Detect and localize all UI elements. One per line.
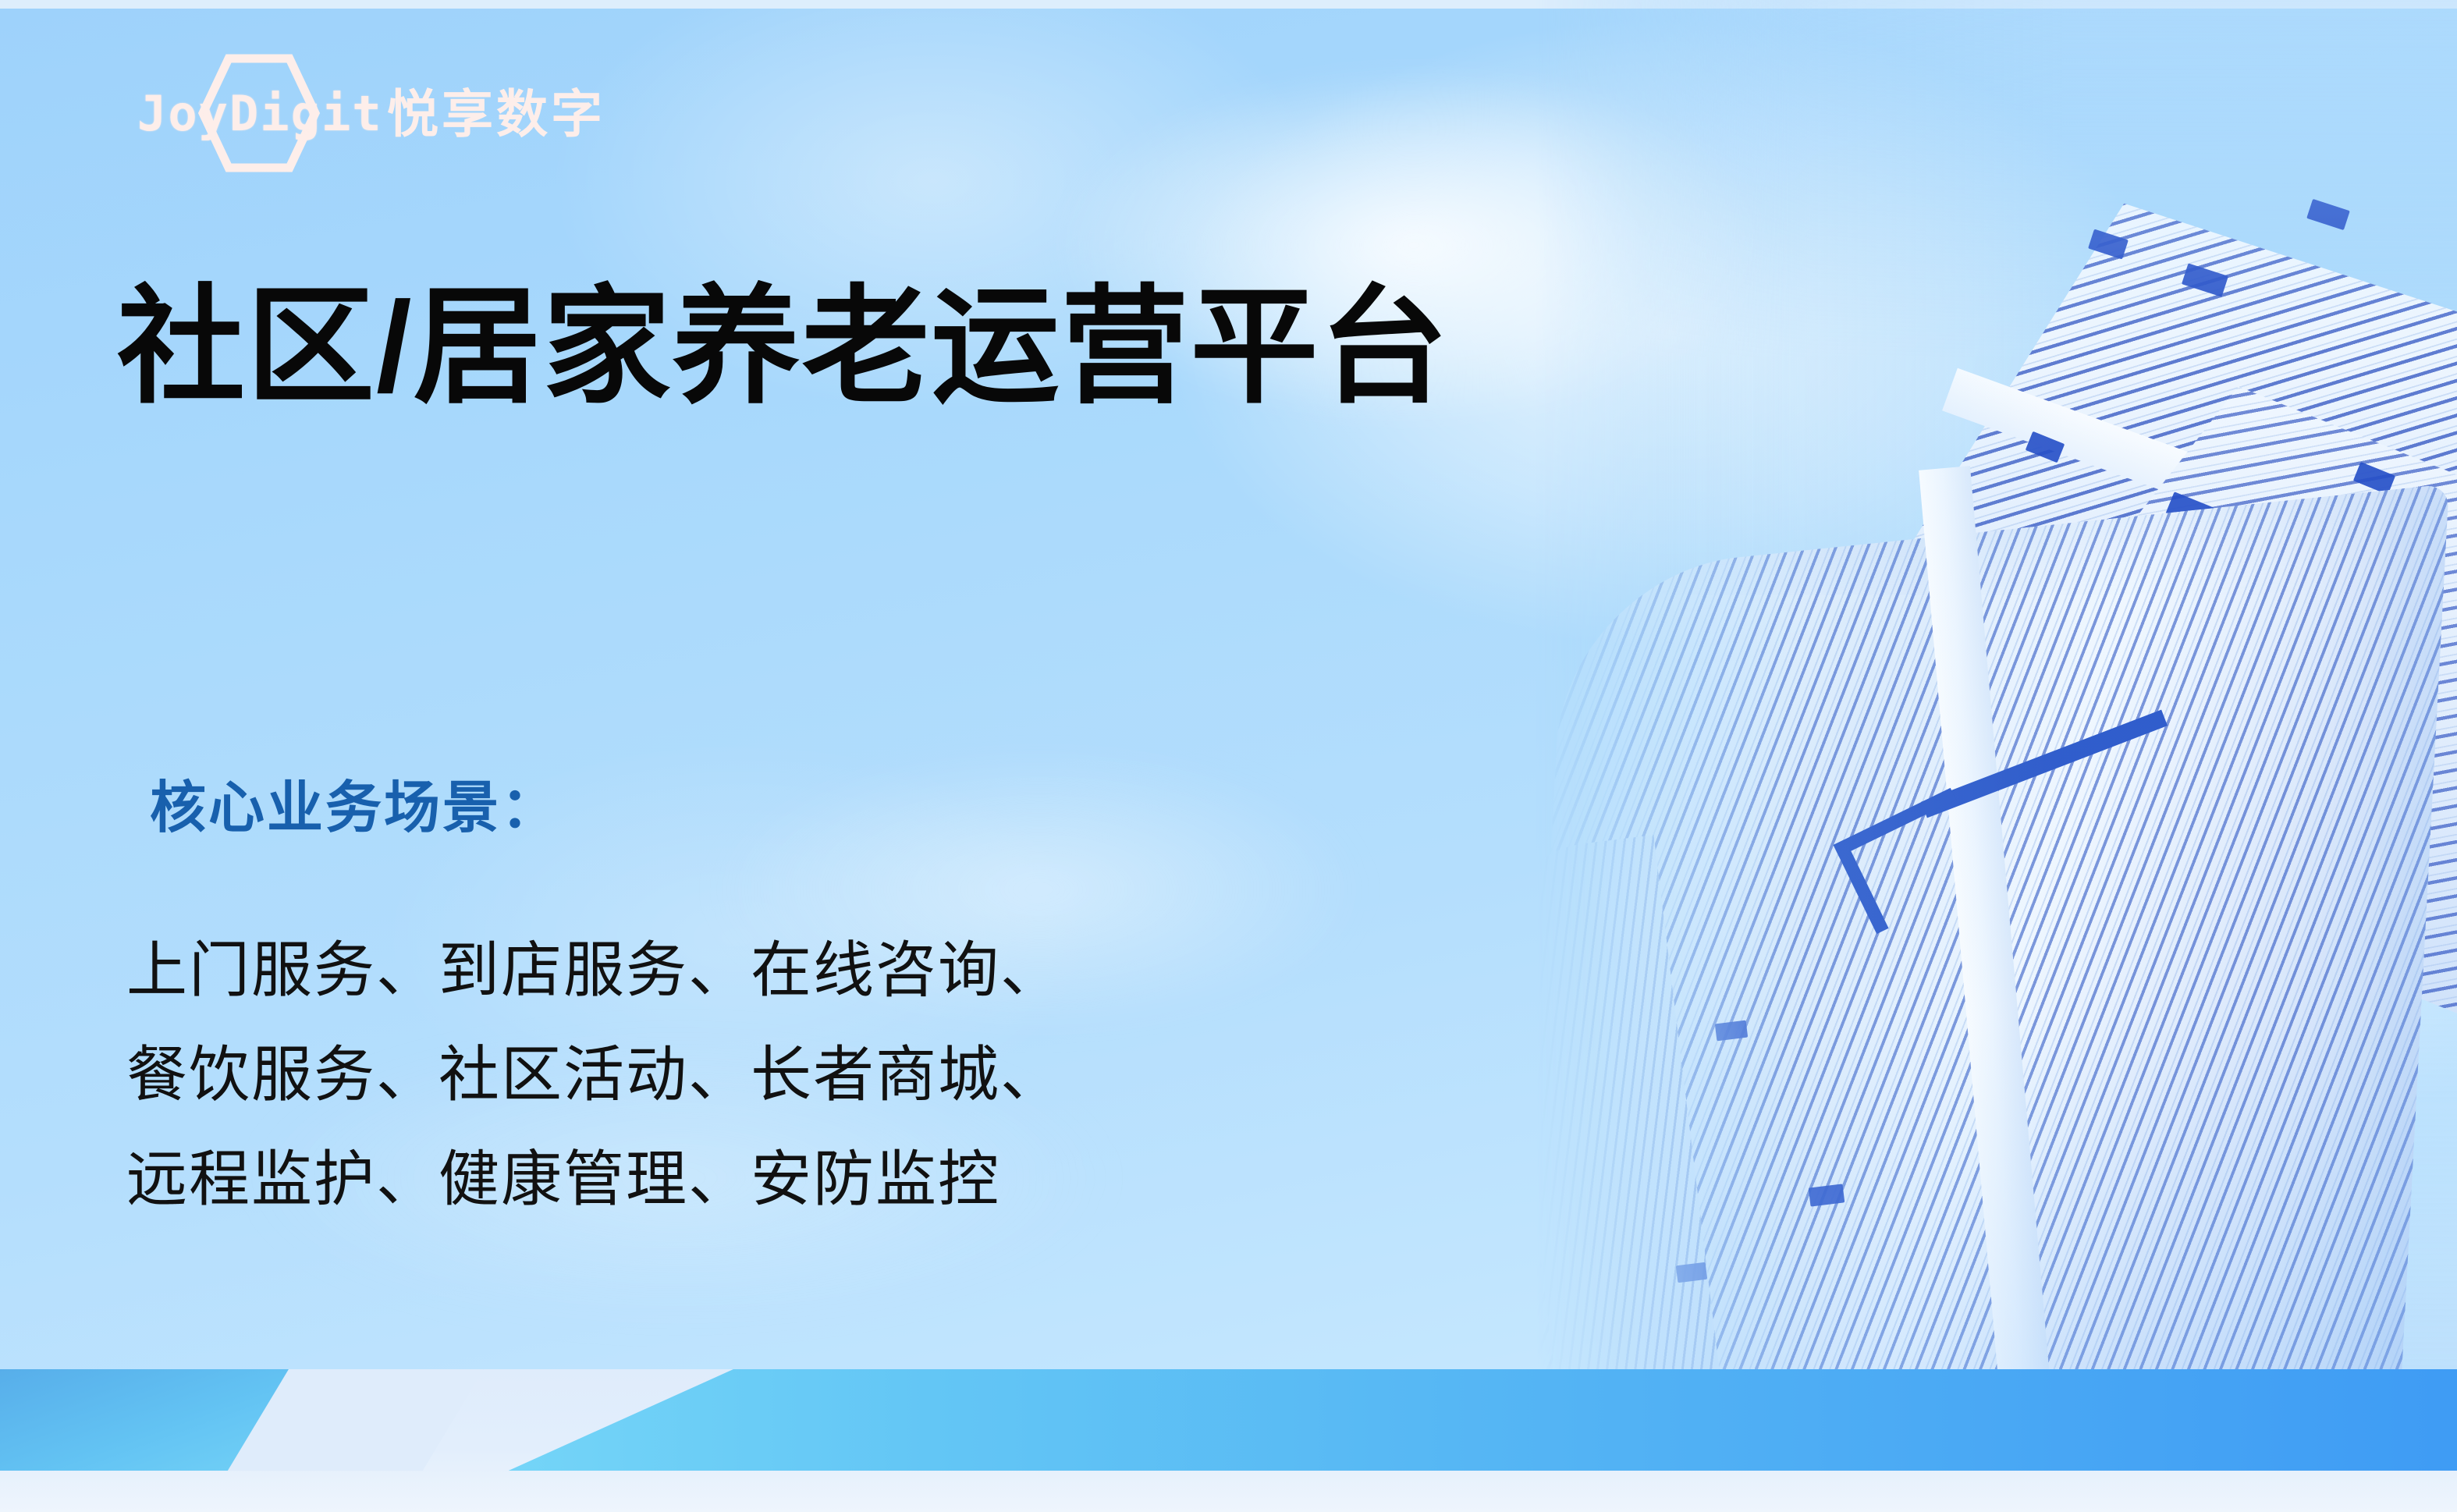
logo-mark: JoyDigit: [137, 68, 381, 160]
skyscraper-photo: [1482, 0, 2457, 1373]
logo-chinese-name: 悦享数字: [387, 88, 605, 140]
scenario-line: 上门服务、到店服务、在线咨询、: [126, 917, 1063, 1022]
photo-tint-overlay: [1482, 0, 2457, 1373]
footer-accent-band: [0, 1369, 2457, 1471]
section-heading: 核心业务场景：: [150, 780, 559, 836]
brand-logo: JoyDigit 悦享数字: [137, 67, 605, 161]
scenario-line: 远程监护、健康管理、安防监控: [126, 1127, 1063, 1231]
page-title: 社区/居家养老运营平台: [117, 279, 1450, 415]
band-right-shape: [437, 1369, 2457, 1471]
slide-canvas: JoyDigit 悦享数字 社区/居家养老运营平台 核心业务场景： 上门服务、到…: [0, 0, 2457, 1512]
scenario-list: 上门服务、到店服务、在线咨询、 餐饮服务、社区活动、长者商城、 远程监护、健康管…: [126, 917, 1063, 1231]
logo-wordmark: JoyDigit: [137, 90, 383, 138]
scenario-line: 餐饮服务、社区活动、长者商城、: [126, 1022, 1063, 1127]
